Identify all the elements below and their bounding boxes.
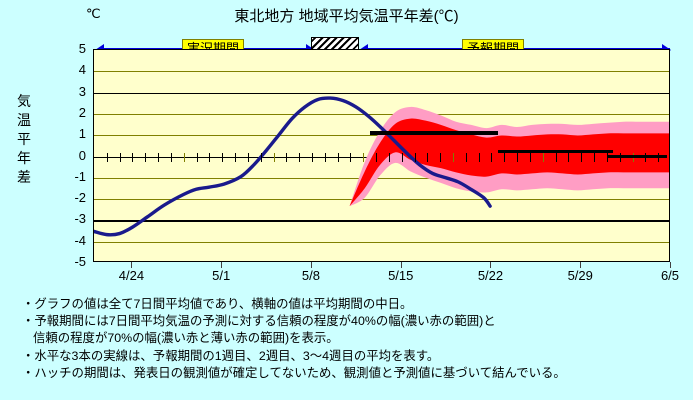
zero-axis-tick [389,153,390,162]
y-axis-label-char-1: 温 [14,111,34,130]
zero-axis-tick [184,153,185,162]
y-tick-label: 0 [60,148,86,163]
zero-axis-tick [453,153,454,162]
zero-axis-tick [466,153,467,162]
x-tick-mark [131,262,132,268]
zero-axis-tick [479,153,480,162]
zero-axis-tick [581,153,582,162]
y-axis-label-char-2: 平 [14,130,34,149]
zero-axis-tick [530,153,531,162]
y-tick-label: -4 [60,233,86,248]
zero-axis-tick [107,153,108,162]
x-tick-mark [670,262,671,268]
x-tick-label: 5/1 [198,268,244,283]
zero-axis-tick [440,153,441,162]
zero-axis-tick [594,153,595,162]
x-tick-label: 6/5 [647,268,693,283]
page-title: 東北地方 地域平均気温平年差(℃) [0,5,693,26]
zero-axis-tick [491,153,492,162]
zero-axis-tick [556,153,557,162]
note-line: ・グラフの値は全て7日間平均値であり、横軸の値は平均期間の中日。 [22,296,687,313]
zero-axis-tick [222,153,223,162]
x-tick-mark [311,262,312,268]
note-line: ・予報期間には7日間平均気温の予測に対する信頼の程度が40%の幅(濃い赤の範囲)… [22,313,687,330]
zero-axis-tick [274,153,275,162]
zero-axis-tick [145,153,146,162]
zero-axis-tick [158,153,159,162]
x-tick-mark [401,262,402,268]
zero-axis-tick [338,153,339,162]
zero-axis-tick [568,153,569,162]
zero-axis-tick [286,153,287,162]
x-tick-label: 5/29 [557,268,603,283]
y-tick-label: 2 [60,105,86,120]
zero-axis-tick [325,153,326,162]
zero-axis-tick [209,153,210,162]
x-tick-mark [490,262,491,268]
note-line: ・ハッチの期間は、発表日の観測値が確定してないため、観測値と予測値に基づいて結ん… [22,365,687,382]
zero-axis-tick [132,153,133,162]
plot-area [93,49,670,262]
zero-axis-tick [120,153,121,162]
zero-axis-tick [504,153,505,162]
zero-axis-tick [350,153,351,162]
x-tick-label: 5/15 [378,268,424,283]
note-line: 信頼の程度が70%の幅(濃い赤と薄い赤の範囲)を表示。 [22,330,687,347]
y-axis-label-char-4: 差 [14,168,34,187]
y-axis-label-char-3: 年 [14,149,34,168]
zero-axis-tick [543,153,544,162]
zero-axis-tick [299,153,300,162]
week-1-mean [370,131,498,134]
week-3-4-mean [607,155,667,158]
chart-canvas [94,50,669,261]
zero-axis-tick [402,153,403,162]
y-axis-label: 気 温 平 年 差 [14,92,34,187]
y-tick-label: -3 [60,211,86,226]
zero-axis-tick [261,153,262,162]
week-2-mean [498,150,613,153]
y-tick-label: -2 [60,190,86,205]
zero-axis-tick [517,153,518,162]
zero-axis-tick [171,153,172,162]
x-tick-mark [580,262,581,268]
y-tick-label: 1 [60,126,86,141]
x-tick-label: 4/24 [108,268,154,283]
y-tick-label: -5 [60,254,86,269]
zero-axis-tick [427,153,428,162]
x-tick-label: 5/8 [288,268,334,283]
x-tick-mark [221,262,222,268]
zero-axis-tick [376,153,377,162]
note-line: ・水平な3本の実線は、予報期間の1週目、2週目、3〜4週目の平均を表す。 [22,348,687,365]
y-tick-label: 3 [60,84,86,99]
x-tick-label: 5/22 [467,268,513,283]
y-tick-label: -1 [60,169,86,184]
y-tick-label: 4 [60,62,86,77]
zero-axis-tick [235,153,236,162]
zero-axis-tick [312,153,313,162]
zero-axis-tick [363,153,364,162]
notes-block: ・グラフの値は全て7日間平均値であり、横軸の値は平均期間の中日。・予報期間には7… [22,296,687,382]
y-axis-label-char-0: 気 [14,92,34,111]
chart-root: ℃ 東北地方 地域平均気温平年差(℃) 気 温 平 年 差 543210-1-2… [0,0,693,400]
zero-axis-tick [248,153,249,162]
zero-axis-tick [197,153,198,162]
zero-axis-tick [415,153,416,162]
